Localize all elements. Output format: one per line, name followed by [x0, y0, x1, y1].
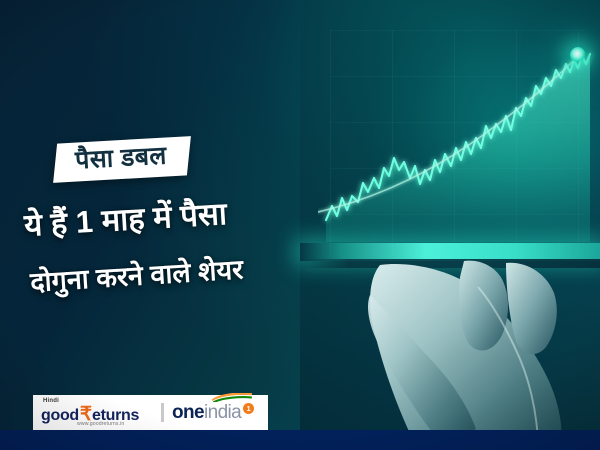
headline-line-3: दोगुना करने वाले शेयर	[29, 249, 244, 299]
oneindia-india-text: india	[204, 402, 241, 424]
logo-strip: Hindi good ₹ eturns www.goodreturns.in o…	[33, 395, 268, 430]
paisa-double-badge: पैसा डबल	[53, 136, 190, 183]
stock-chart-graphic	[318, 20, 600, 260]
hand-holding-platform-graphic	[360, 255, 600, 450]
glowing-peak-marker-icon	[570, 47, 586, 63]
badge-label: पैसा डबल	[74, 143, 167, 174]
oneindia-logo[interactable]: one india 1	[172, 402, 254, 424]
thumbnail-canvas: पैसा डबल ये हैं 1 माह में पैसा दोगुना कर…	[0, 0, 600, 450]
headline-line-2: ये हैं 1 माह में पैसा	[23, 192, 228, 246]
bottom-navy-bar	[0, 430, 600, 450]
india-flag-swoosh-icon	[212, 393, 252, 402]
goodreturns-good-text: good	[41, 407, 79, 425]
oneindia-badge-icon: 1	[243, 403, 254, 414]
hand-index-finger	[459, 261, 508, 351]
goodreturns-logo[interactable]: Hindi good ₹ eturns www.goodreturns.in	[33, 395, 155, 430]
oneindia-one-text: one	[172, 402, 204, 424]
logo-divider	[161, 403, 164, 422]
goodreturns-url: www.goodreturns.in	[77, 421, 124, 427]
goodreturns-kicker: Hindi	[43, 398, 59, 404]
